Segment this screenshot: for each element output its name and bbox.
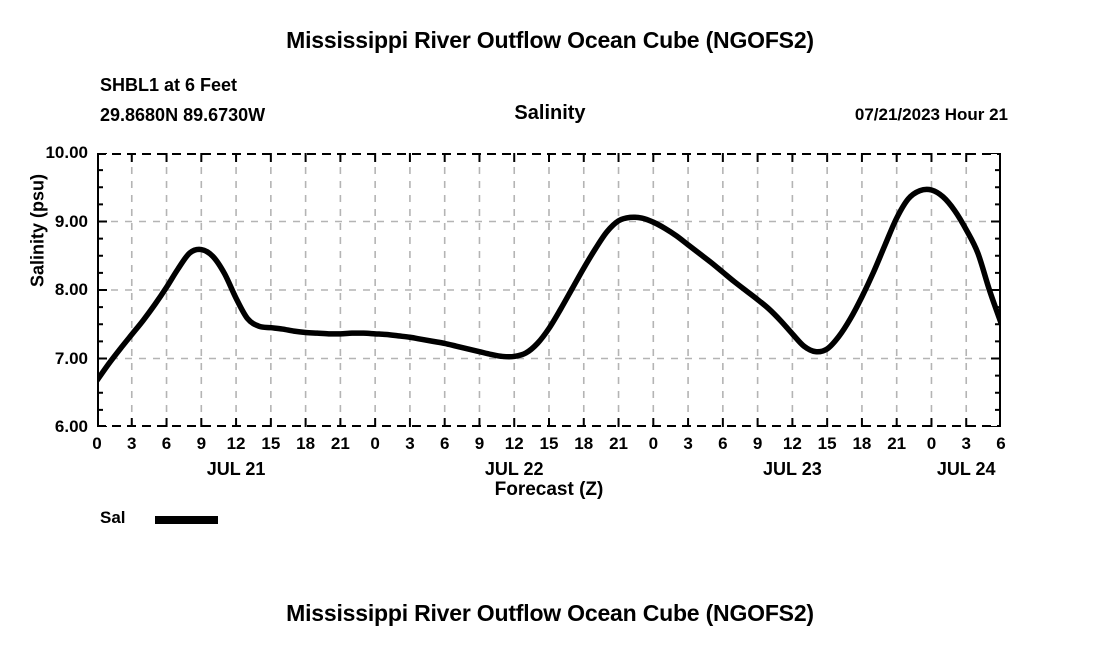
x-tick-label: 18 xyxy=(574,434,593,454)
x-tick-label: 0 xyxy=(370,434,379,454)
plot-area xyxy=(97,153,1001,427)
y-tick-label: 6.00 xyxy=(55,417,88,437)
x-tick-label: 18 xyxy=(852,434,871,454)
y-tick-label: 8.00 xyxy=(55,280,88,300)
x-tick-label: 6 xyxy=(440,434,449,454)
salinity-timeseries-svg xyxy=(97,153,1001,427)
x-tick-label: 0 xyxy=(927,434,936,454)
y-tick-label: 9.00 xyxy=(55,212,88,232)
x-tick-label: 15 xyxy=(540,434,559,454)
x-tick-label: 3 xyxy=(127,434,136,454)
x-axis-day-label: JUL 21 xyxy=(207,459,266,480)
x-tick-label: 21 xyxy=(609,434,628,454)
legend-line-swatch xyxy=(155,516,218,524)
station-label: SHBL1 at 6 Feet xyxy=(100,75,237,96)
page-title: Mississippi River Outflow Ocean Cube (NG… xyxy=(0,27,1100,54)
x-tick-label: 12 xyxy=(783,434,802,454)
x-tick-label: 15 xyxy=(818,434,837,454)
y-tick-label: 7.00 xyxy=(55,349,88,369)
x-tick-label: 6 xyxy=(718,434,727,454)
x-tick-label: 18 xyxy=(296,434,315,454)
x-tick-label: 0 xyxy=(92,434,101,454)
x-axis-day-label: JUL 23 xyxy=(763,459,822,480)
y-axis-tick-labels: 6.007.008.009.0010.00 xyxy=(22,153,88,427)
x-axis-label: Forecast (Z) xyxy=(97,479,1001,501)
x-tick-label: 12 xyxy=(505,434,524,454)
x-axis-tick-labels: 036912151821036912151821036912151821036 xyxy=(97,434,1001,456)
page-footer-title: Mississippi River Outflow Ocean Cube (NG… xyxy=(0,600,1100,627)
legend-label: Sal xyxy=(100,508,126,528)
x-tick-label: 9 xyxy=(475,434,484,454)
x-axis-day-label: JUL 24 xyxy=(937,459,996,480)
x-axis-day-labels: JUL 21JUL 22JUL 23JUL 24 xyxy=(97,459,1001,481)
x-axis-day-label: JUL 22 xyxy=(485,459,544,480)
x-tick-label: 6 xyxy=(162,434,171,454)
chart-page: Mississippi River Outflow Ocean Cube (NG… xyxy=(0,0,1100,650)
x-tick-label: 9 xyxy=(197,434,206,454)
x-tick-label: 3 xyxy=(961,434,970,454)
x-tick-label: 12 xyxy=(227,434,246,454)
x-tick-label: 9 xyxy=(753,434,762,454)
y-tick-label: 10.00 xyxy=(45,143,88,163)
x-tick-label: 21 xyxy=(331,434,350,454)
x-tick-label: 21 xyxy=(887,434,906,454)
x-tick-label: 15 xyxy=(261,434,280,454)
x-tick-label: 3 xyxy=(405,434,414,454)
model-cycle-label: 07/21/2023 Hour 21 xyxy=(855,105,1008,125)
x-tick-label: 0 xyxy=(649,434,658,454)
x-tick-label: 3 xyxy=(683,434,692,454)
x-tick-label: 6 xyxy=(996,434,1005,454)
